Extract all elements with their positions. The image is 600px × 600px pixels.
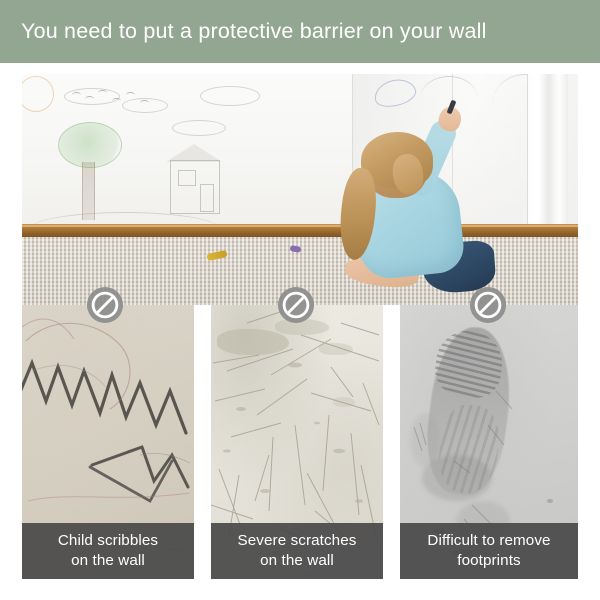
door-edge [559,74,568,226]
caption-line-2: on the wall [260,552,334,569]
panel-caption: Difficult to remove footprints [400,523,578,579]
hero-photo [22,74,578,305]
prohibition-icon [469,286,507,324]
panel-caption: Child scribbles on the wall [22,523,194,579]
caption-text: Child scribbles on the wall [52,531,164,571]
caption-line-2: on the wall [71,552,145,569]
caption-line-1: Child scribbles [58,532,158,549]
caption-line-1: Difficult to remove [427,532,550,549]
caption-text: Difficult to remove footprints [421,531,556,571]
caption-text: Severe scratches on the wall [232,531,363,571]
panel-severe-scratches: Severe scratches on the wall [211,305,383,579]
caption-line-2: footprints [457,552,520,569]
prohibition-icon [86,286,124,324]
child-figure [327,110,502,305]
header-banner: You need to put a protective barrier on … [0,0,600,63]
page-title: You need to put a protective barrier on … [0,19,487,44]
panel-child-scribbles: Child scribbles on the wall [22,305,194,579]
caption-line-1: Severe scratches [238,532,357,549]
prohibition-icon [277,286,315,324]
panel-difficult-footprints: Difficult to remove footprints [400,305,578,579]
problem-panels-row: Child scribbles on the wall [0,305,600,579]
door-trim [527,74,568,226]
panel-caption: Severe scratches on the wall [211,523,383,579]
promotional-product-graphic: You need to put a protective barrier on … [0,0,600,600]
